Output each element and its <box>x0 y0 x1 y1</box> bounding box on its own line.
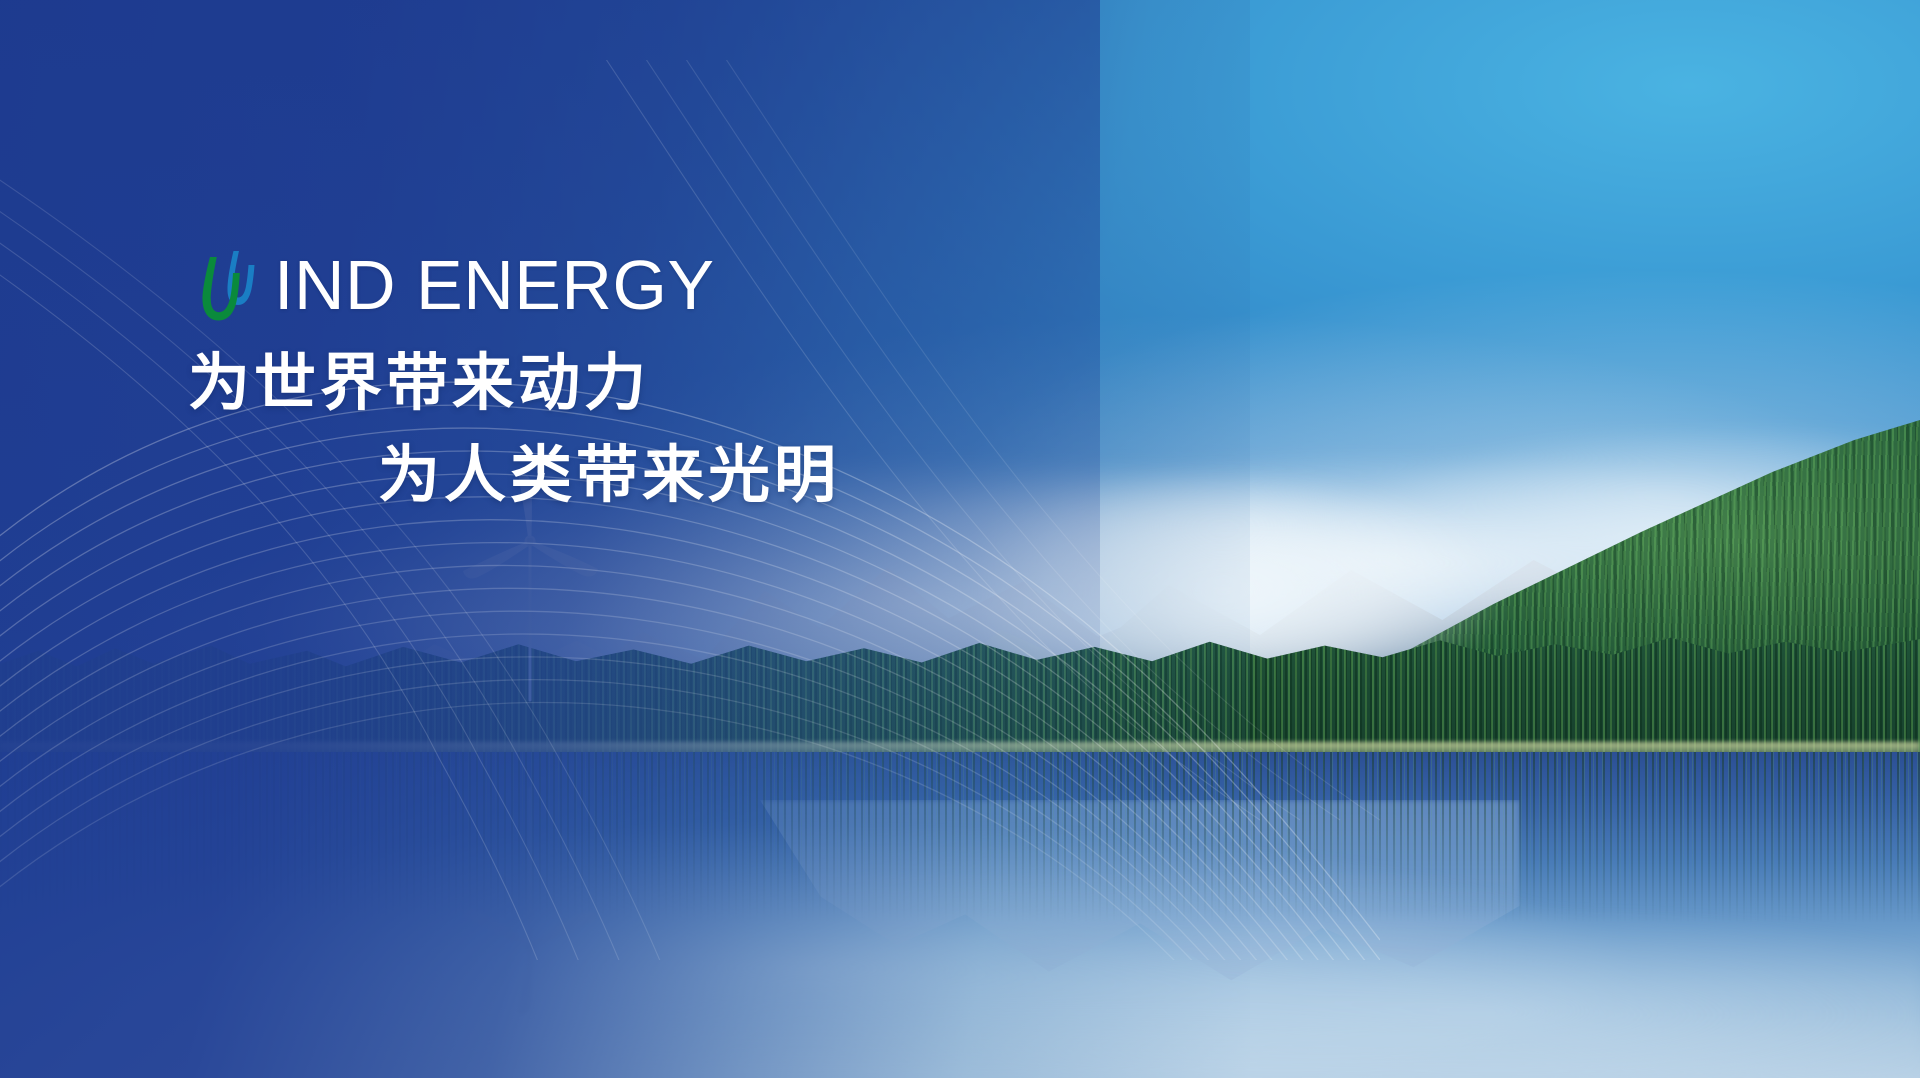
wind-swoosh-logo-icon <box>188 245 272 329</box>
tagline-line-1: 为世界带来动力 <box>188 337 1188 429</box>
banner-canvas: IND ENERGY 为世界带来动力 为人类带来光明 <box>0 0 1920 1078</box>
brand-wordmark: IND ENERGY <box>274 248 715 322</box>
banner-content: IND ENERGY 为世界带来动力 为人类带来光明 <box>188 243 1188 521</box>
tagline-line-2: 为人类带来光明 <box>188 429 1188 521</box>
brand-vertical-wash <box>0 0 1100 1078</box>
tagline-block: 为世界带来动力 为人类带来光明 <box>188 337 1188 521</box>
brand-logo: IND ENERGY <box>188 243 1188 327</box>
